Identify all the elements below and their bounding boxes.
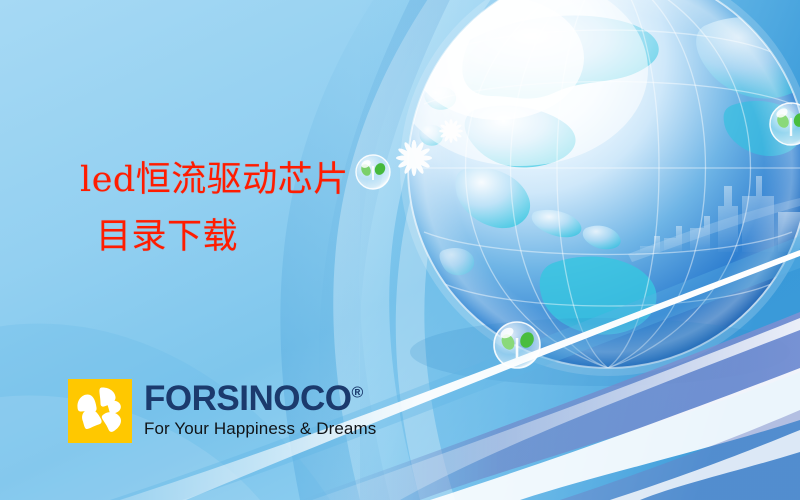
logo-mark-tile [68,379,132,443]
registered-trademark-icon: ® [351,384,362,401]
headline-block: led恒流驱动芯片 目录下载 [80,160,500,259]
company-logo: FORSINOCO® For Your Happiness & Dreams [68,379,376,443]
bubble-sprout-mid [494,322,540,368]
headline-line-1: led恒流驱动芯片 [80,160,500,201]
slide-canvas: led恒流驱动芯片 目录下载 FORSINOCO® For Your Happ [0,0,800,500]
logo-wordmark-text: FORSINOCO [144,379,351,418]
logo-text-block: FORSINOCO® For Your Happiness & Dreams [144,379,376,439]
logo-wordmark-row: FORSINOCO® [144,381,376,416]
headline-line-2: 目录下载 [96,217,500,258]
four-petal-pinwheel-icon [68,379,132,443]
logo-tagline: For Your Happiness & Dreams [144,419,376,439]
